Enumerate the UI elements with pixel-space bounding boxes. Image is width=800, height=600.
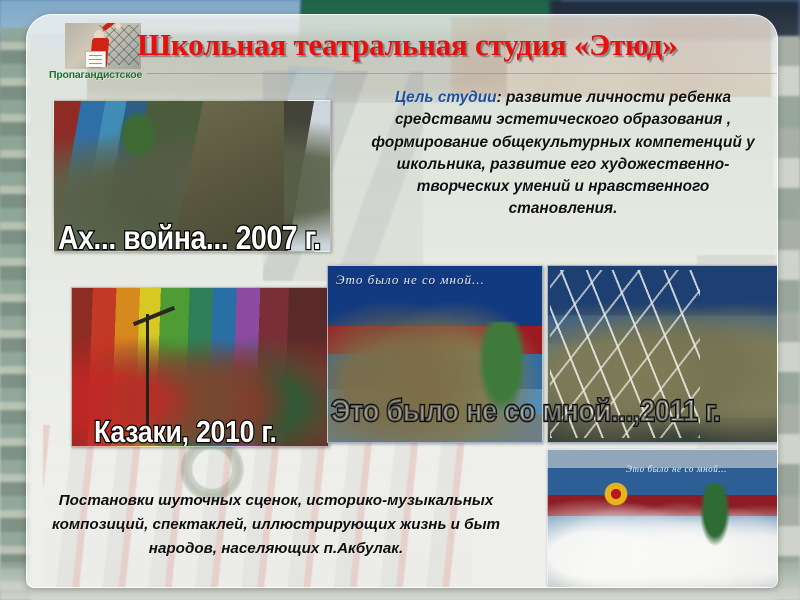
goal-accent-label: Цель студии bbox=[395, 89, 497, 106]
photo-cossacks-2010[interactable]: Казаки, 2010 г. bbox=[71, 287, 329, 447]
poster-image bbox=[65, 23, 141, 69]
photo-kids-star-decor bbox=[600, 478, 632, 510]
slide-panel: Пропагандистское Школьная театральная ст… bbox=[26, 14, 778, 588]
header-divider bbox=[147, 73, 778, 74]
poster-figure-paper bbox=[85, 51, 106, 68]
goal-separator: : bbox=[497, 89, 506, 106]
goal-body: развитие личности ребенка средствами эст… bbox=[371, 89, 754, 217]
page-title: Школьная театральная студия «Этюд» bbox=[137, 27, 777, 63]
photo-cossacks-mic-arm bbox=[133, 306, 175, 326]
photo-kids-tree-decor bbox=[698, 484, 732, 550]
photo-mic-banner-text: Это было не со мной... bbox=[336, 272, 536, 288]
photo-war-2007[interactable]: Ах... война... 2007 г. bbox=[53, 100, 331, 252]
logo-label: Пропагандистское bbox=[49, 69, 177, 81]
poster-figure bbox=[85, 25, 119, 69]
slide-header: Пропагандистское Школьная театральная ст… bbox=[27, 19, 778, 77]
photo-cossacks-caption: Казаки, 2010 г. bbox=[94, 414, 314, 447]
photo-war-plant bbox=[116, 107, 160, 163]
bottom-description: Постановки шуточных сценок, историко-муз… bbox=[41, 489, 511, 561]
overlay-caption-2011: Это было не со мной...,2011 г. bbox=[331, 393, 771, 429]
photo-war-caption: Ах... война... 2007 г. bbox=[58, 219, 295, 252]
photo-kids-banner-text: Это было не со мной... bbox=[626, 464, 727, 474]
photo-kids-white[interactable]: Это было не со мной... bbox=[547, 449, 778, 588]
goal-text-block: Цель студии: развитие личности ребенка с… bbox=[363, 87, 763, 221]
poster-figure-hand bbox=[115, 23, 121, 29]
